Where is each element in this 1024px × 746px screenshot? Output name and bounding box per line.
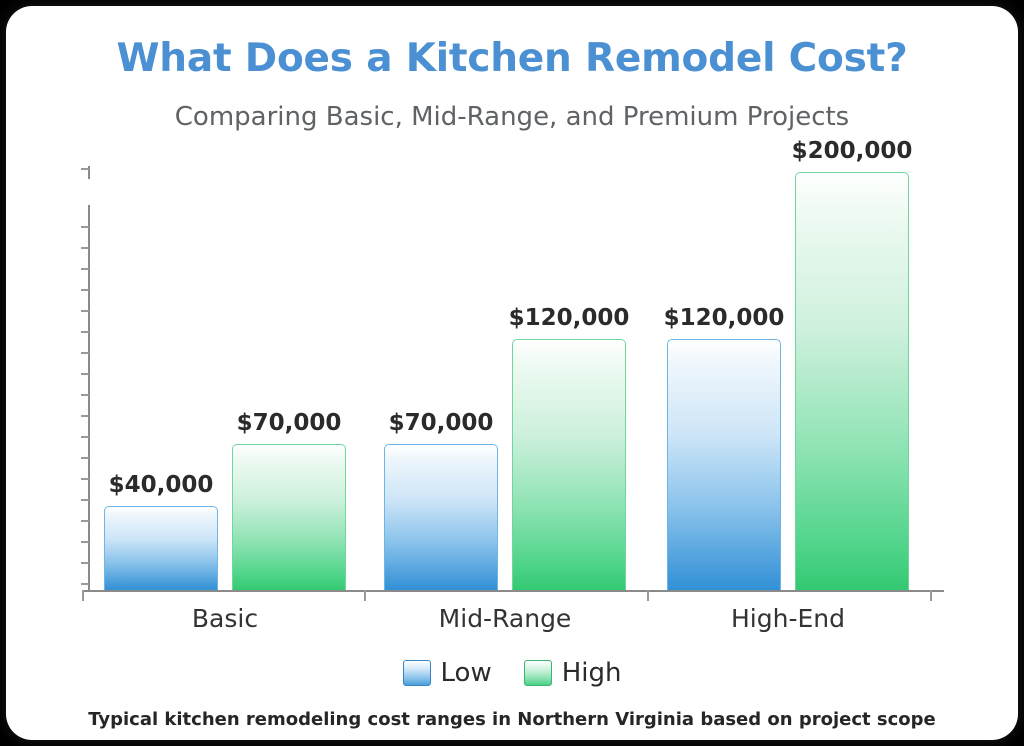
x-axis-line <box>82 590 944 592</box>
bar-chart-plot: $40,000$70,000$70,000$120,000$120,000$20… <box>6 6 1018 740</box>
bar-basic-low[interactable] <box>104 506 218 590</box>
legend-item-low[interactable]: Low <box>403 658 492 688</box>
category-label-high-end: High-End <box>667 604 909 633</box>
bar-mid-range-high[interactable] <box>512 339 626 590</box>
y-axis-tick <box>81 436 89 438</box>
bar-basic-high[interactable] <box>232 444 346 590</box>
y-axis-tick <box>81 247 89 249</box>
x-axis-tick <box>364 590 366 601</box>
legend-swatch-low-icon <box>403 660 431 686</box>
y-axis-tick-top <box>81 168 89 170</box>
chart-card: What Does a Kitchen Remodel Cost? Compar… <box>6 6 1018 740</box>
y-axis-tick <box>81 394 89 396</box>
bar-value-label: $40,000 <box>86 472 236 498</box>
category-label-basic: Basic <box>104 604 346 633</box>
footer-caption: Typical kitchen remodeling cost ranges i… <box>6 709 1018 730</box>
y-axis-tick <box>81 541 89 543</box>
legend-swatch-high-icon <box>524 660 552 686</box>
bar-value-label: $200,000 <box>777 138 927 164</box>
legend-label-low: Low <box>441 658 492 688</box>
legend-item-high[interactable]: High <box>524 658 622 688</box>
y-axis-tick <box>81 268 89 270</box>
bar-value-label: $120,000 <box>649 305 799 331</box>
y-axis-tick <box>81 352 89 354</box>
category-label-mid-range: Mid-Range <box>384 604 626 633</box>
bar-value-label: $70,000 <box>214 410 364 436</box>
bar-value-label: $120,000 <box>494 305 644 331</box>
x-axis-tick <box>647 590 649 601</box>
y-axis-tick <box>81 226 89 228</box>
y-axis-tick <box>81 457 89 459</box>
y-axis-tick <box>81 415 89 417</box>
y-axis-tick <box>81 520 89 522</box>
y-axis-tick <box>81 583 89 585</box>
legend-label-high: High <box>562 658 622 688</box>
y-axis-tick <box>81 289 89 291</box>
bar-high-end-low[interactable] <box>667 339 781 590</box>
bar-high-end-high[interactable] <box>795 172 909 590</box>
y-axis-tick <box>81 499 89 501</box>
y-axis-tick <box>81 373 89 375</box>
x-axis-tick <box>82 590 84 601</box>
bar-value-label: $70,000 <box>366 410 516 436</box>
y-axis-tick <box>81 331 89 333</box>
y-axis-tick <box>81 310 89 312</box>
x-axis-tick <box>930 590 932 601</box>
y-axis-line <box>88 205 90 591</box>
chart-legend: Low High <box>6 658 1018 688</box>
bar-mid-range-low[interactable] <box>384 444 498 590</box>
y-axis-tick <box>81 562 89 564</box>
